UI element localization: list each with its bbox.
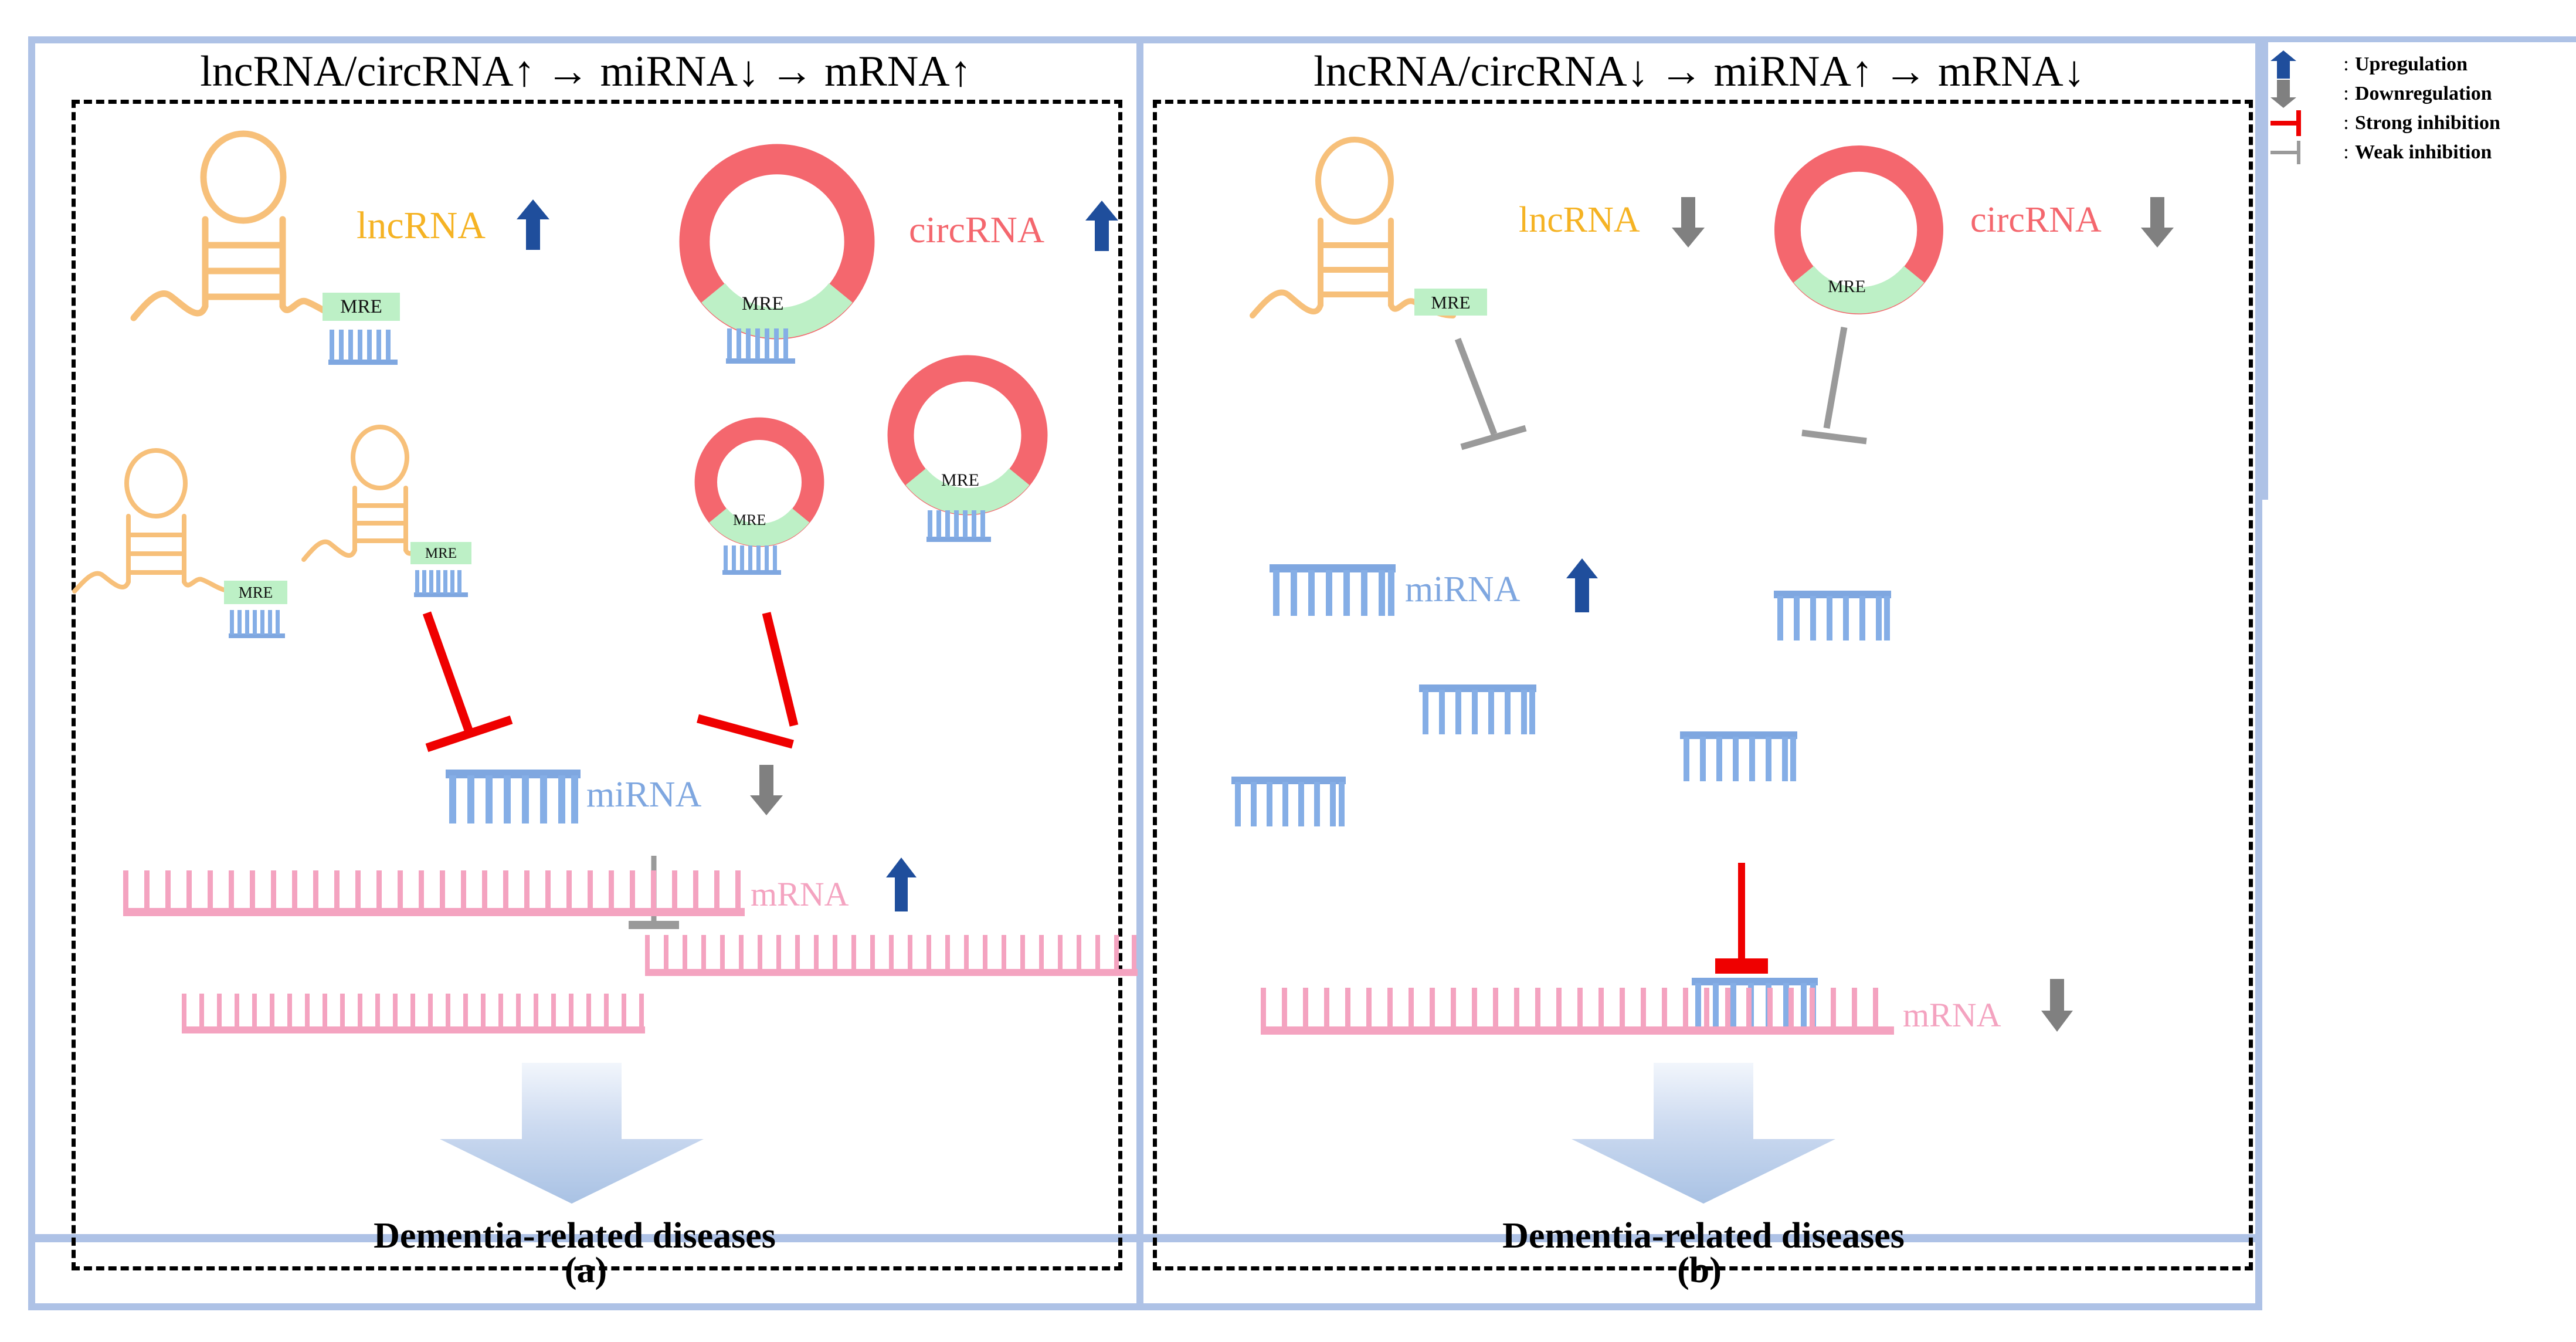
mirna-comb-free	[1774, 591, 1891, 642]
mirna-label: miRNA	[1405, 571, 1520, 608]
mre-label: MRE	[742, 294, 784, 314]
panel-b-caption: (b)	[1143, 1236, 2255, 1304]
up-arrow-icon	[516, 199, 550, 250]
down-arrow-icon	[2268, 79, 2337, 109]
mirna-comb-bound	[229, 610, 285, 638]
up-arrow-icon	[885, 858, 917, 911]
mre-label: MRE	[1828, 278, 1866, 296]
strong-inhibit-icon	[416, 608, 522, 755]
mrna-label: mRNA	[751, 877, 849, 911]
weak-inhibit-icon	[1791, 324, 1897, 447]
mirna-comb-bound	[722, 545, 781, 575]
legend-item-weak-inhibition: : Weak inhibition	[2268, 137, 2576, 168]
up-arrow-icon	[1085, 201, 1119, 251]
mirna-comb-free	[1270, 564, 1396, 617]
legend-item-downregulation: : Downregulation	[2268, 79, 2576, 109]
legend-item-strong-inhibition: : Strong inhibition	[2268, 108, 2576, 138]
weak-inhibit-icon	[2268, 137, 2337, 168]
mrna-strand	[123, 869, 745, 916]
panel-a-title: lncRNA/circRNA↑ → miRNA↓ → mRNA↑	[35, 47, 1136, 97]
table-border-right	[2255, 36, 2262, 1310]
legend-colon: :	[2337, 112, 2355, 134]
mirna-comb-bound	[414, 570, 468, 597]
mirna-comb-central	[446, 770, 581, 825]
up-arrow-icon	[2268, 49, 2337, 80]
legend-label: Downregulation	[2355, 83, 2492, 105]
lncrna-label: lncRNA	[1519, 202, 1640, 238]
circrna-label: circRNA	[1970, 202, 2102, 238]
legend-label: Upregulation	[2355, 53, 2468, 76]
up-arrow-icon	[1566, 558, 1598, 612]
mirna-label: miRNA	[586, 777, 701, 813]
mrna-label: mRNA	[1903, 998, 2001, 1032]
down-arrow-icon	[2041, 978, 2073, 1032]
panel-b-title: lncRNA/circRNA↓ → miRNA↑ → mRNA↓	[1143, 47, 2255, 97]
strong-inhibit-icon	[1703, 860, 1780, 978]
down-arrow-icon	[749, 764, 783, 815]
mrna-strand	[182, 992, 645, 1033]
down-arrow-icon	[1671, 196, 1705, 248]
mre-box: MRE	[323, 293, 400, 321]
lncrna-structure	[270, 423, 516, 582]
legend-colon: :	[2337, 141, 2355, 164]
mre-label: MRE	[941, 472, 979, 489]
legend: : Upregulation : Downregulation : Strong…	[2268, 42, 2576, 500]
legend-divider	[2262, 36, 2268, 500]
panel-b: lncRNA/circRNA↓ → miRNA↑ → mRNA↓ MRE lnc…	[1143, 36, 2255, 1234]
mirna-comb-free	[1680, 731, 1797, 783]
legend-colon: :	[2337, 53, 2355, 76]
down-arrow-icon	[2140, 196, 2174, 248]
strong-inhibit-icon	[2268, 108, 2337, 138]
mre-label: MRE	[733, 513, 766, 528]
table-border-left	[28, 36, 35, 1310]
mrna-strand	[645, 934, 1138, 976]
outcome-block-arrow	[440, 1063, 704, 1204]
mirna-comb-free	[1231, 777, 1346, 828]
strong-inhibit-icon	[693, 608, 805, 755]
legend-item-upregulation: : Upregulation	[2268, 49, 2576, 80]
legend-colon: :	[2337, 83, 2355, 105]
mirna-comb-free	[1419, 684, 1536, 736]
figure-root: lncRNA/circRNA↑ → miRNA↓ → mRNA↑ MRE	[0, 0, 2576, 1342]
outcome-block-arrow	[1572, 1063, 1835, 1204]
panel-a: lncRNA/circRNA↑ → miRNA↓ → mRNA↑ MRE	[35, 36, 1136, 1234]
mirna-comb-bound	[726, 328, 795, 364]
panel-divider	[1136, 36, 1143, 1310]
mirna-comb-bound	[328, 330, 398, 365]
mre-box: MRE	[410, 542, 471, 564]
mre-box: MRE	[1414, 289, 1487, 316]
circrna-structure	[880, 347, 1055, 523]
lncrna-label: lncRNA	[357, 206, 486, 245]
mirna-comb-bound	[926, 510, 991, 542]
weak-inhibit-icon	[1437, 335, 1542, 453]
circrna-structure	[668, 133, 885, 350]
legend-border-top	[2262, 36, 2576, 42]
legend-label: Strong inhibition	[2355, 112, 2500, 134]
mrna-strand	[1261, 987, 1894, 1035]
circrna-label: circRNA	[909, 211, 1044, 249]
mre-box: MRE	[224, 581, 287, 604]
panel-a-caption: (a)	[35, 1236, 1136, 1304]
legend-label: Weak inhibition	[2355, 141, 2492, 164]
circrna-structure	[689, 412, 830, 553]
